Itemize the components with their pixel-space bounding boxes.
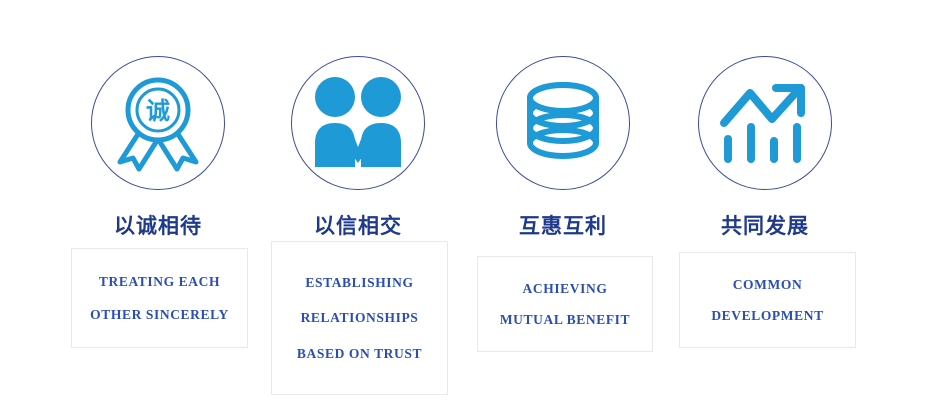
two-people-handshake-icon xyxy=(309,75,407,171)
award-ribbon-icon: 诚 xyxy=(110,73,206,173)
feature-line: ACHIEVING xyxy=(523,282,608,296)
growth-chart-arrow-icon xyxy=(719,79,811,167)
feature-card-1[interactable]: 诚 以诚相待 xyxy=(58,0,258,411)
feature-title-4: 共同发展 xyxy=(665,214,865,240)
two-people-handshake-icon-circle xyxy=(291,56,425,190)
feature-line: COMMON xyxy=(733,278,803,292)
award-ribbon-inner-label: 诚 xyxy=(146,97,170,125)
feature-card-4[interactable]: 共同发展 xyxy=(665,0,865,411)
feature-line: OTHER SINCERELY xyxy=(90,308,229,322)
feature-title-1: 以诚相待 xyxy=(58,214,258,240)
features-row: 诚 以诚相待 TREATING EACH OTHER SINCERELY 以信相… xyxy=(0,0,944,411)
feature-line: MUTUAL BENEFIT xyxy=(500,313,630,327)
feature-textbox-4: COMMON DEVELOPMENT xyxy=(679,252,856,348)
feature-line: DEVELOPMENT xyxy=(711,309,823,323)
feature-line: ESTABLISHING xyxy=(305,276,413,290)
growth-chart-arrow-icon-circle xyxy=(698,56,832,190)
feature-textbox-3: ACHIEVING MUTUAL BENEFIT xyxy=(477,256,653,352)
feature-line: BASED ON TRUST xyxy=(297,347,422,361)
feature-line: TREATING EACH xyxy=(99,275,220,289)
coin-stack-icon-circle xyxy=(496,56,630,190)
coin-stack-icon xyxy=(520,77,606,169)
award-ribbon-icon-circle: 诚 xyxy=(91,56,225,190)
feature-line: RELATIONSHIPS xyxy=(301,311,419,325)
feature-title-2: 以信相交 xyxy=(258,214,458,240)
feature-textbox-2: ESTABLISHING RELATIONSHIPS BASED ON TRUS… xyxy=(271,241,448,395)
feature-title-3: 互惠互利 xyxy=(463,214,663,240)
feature-textbox-1: TREATING EACH OTHER SINCERELY xyxy=(71,248,248,348)
